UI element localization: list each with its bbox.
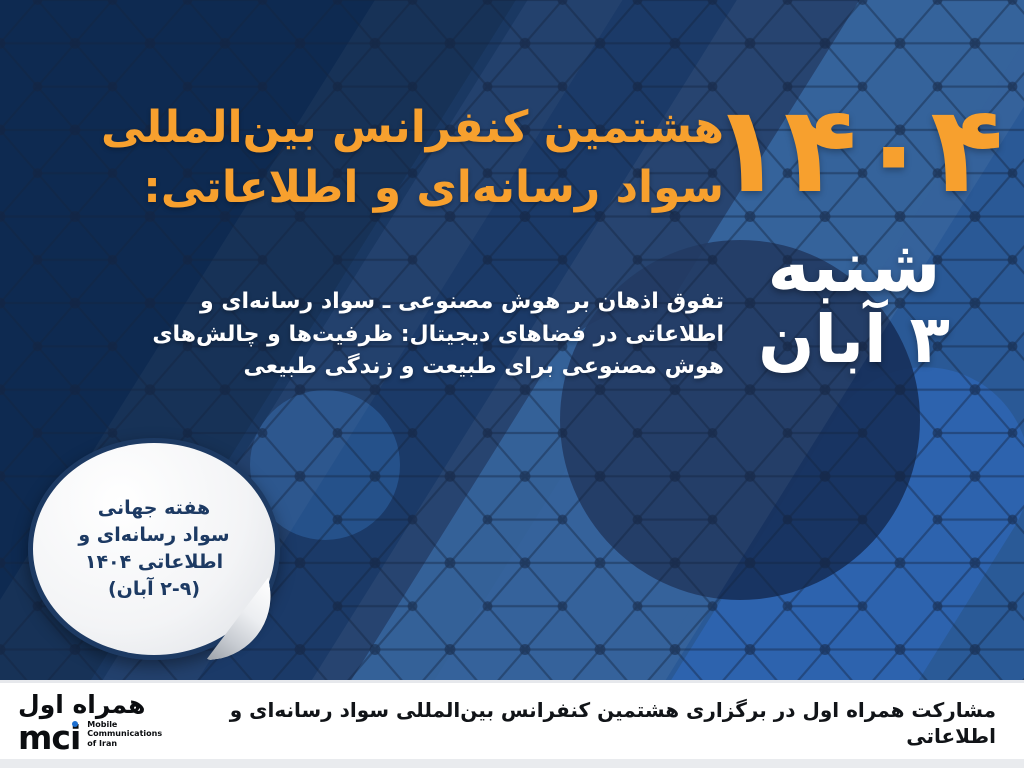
sticker-line-4: (۲-۹ آبان)	[78, 576, 229, 603]
page-title: هشتمین کنفرانس بین‌المللی سواد رسانه‌ای …	[84, 98, 724, 218]
event-year-row: ۱۴۰۴	[720, 92, 988, 210]
mci-sub-line-3: of Iran	[87, 739, 162, 748]
headline-line-2: سواد رسانه‌ای و اطلاعاتی:	[84, 158, 724, 218]
mci-logo-row: mci Mobile Communications of Iran	[18, 720, 162, 751]
footer-text: مشارکت همراه اول در برگزاری هشتمین کنفرا…	[194, 697, 1024, 749]
page-subtitle: تفوق اذهان بر هوش مصنوعی ـ سواد رسانه‌ای…	[74, 286, 724, 384]
mci-sub-line-2: Communications	[87, 729, 162, 738]
status-badge: هفته جهانی سواد رسانه‌ای و اطلاعاتی ۱۴۰۴…	[28, 438, 280, 660]
mci-logo-latin: mci	[18, 724, 80, 751]
conference-poster: هشتمین کنفرانس بین‌المللی سواد رسانه‌ای …	[0, 0, 1024, 768]
mci-logo-latin-text: mci	[18, 718, 80, 757]
sticker-line-2: سواد رسانه‌ای و	[78, 522, 229, 549]
event-weekday: شنبه	[720, 232, 988, 301]
subtitle-line-1: تفوق اذهان بر هوش مصنوعی ـ سواد رسانه‌ای…	[74, 286, 724, 319]
sticker-line-3: اطلاعاتی ۱۴۰۴	[78, 549, 229, 576]
mci-logo-persian: همراه اول	[18, 692, 145, 717]
subtitle-line-3: هوش مصنوعی برای طبیعت و زندگی طبیعی	[74, 351, 724, 384]
mci-sub-line-1: Mobile	[87, 720, 162, 729]
event-date-block: ۱۴۰۴ شنبه ۳ آبان	[720, 92, 988, 373]
sticker-text: هفته جهانی سواد رسانه‌ای و اطلاعاتی ۱۴۰۴…	[56, 495, 251, 603]
event-day-month: ۳ آبان	[720, 307, 988, 373]
mci-logo-subtitle: Mobile Communications of Iran	[87, 720, 162, 751]
event-year: ۱۴۰۴	[711, 92, 1004, 210]
sticker-line-1: هفته جهانی	[78, 495, 229, 522]
footer-bar: مشارکت همراه اول در برگزاری هشتمین کنفرا…	[0, 680, 1024, 768]
subtitle-line-2: اطلاعاتی در فضاهای دیجیتال: ظرفیت‌ها و چ…	[74, 319, 724, 352]
headline-line-1: هشتمین کنفرانس بین‌المللی	[84, 98, 724, 158]
mci-logo: همراه اول mci Mobile Communications of I…	[0, 692, 194, 751]
